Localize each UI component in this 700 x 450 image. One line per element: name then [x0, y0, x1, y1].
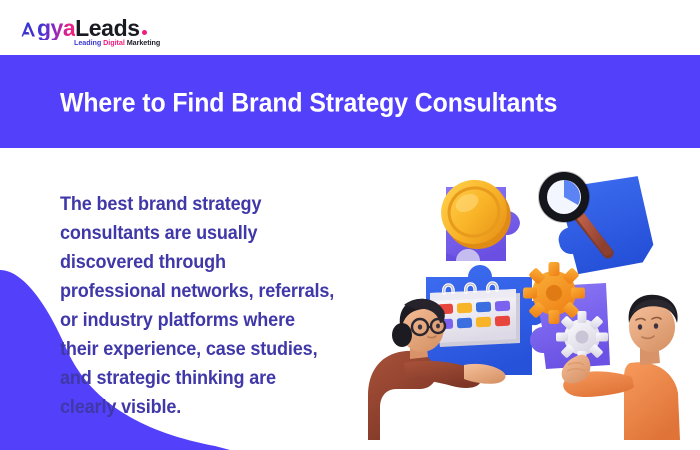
page-title: Where to Find Brand Strategy Consultants [60, 88, 601, 119]
magnifier-puzzle-piece [539, 172, 656, 277]
logo-text-leads: Leads [75, 17, 139, 40]
body-paragraph: The best brand strategy consultants are … [60, 190, 350, 422]
header-divider [0, 55, 700, 58]
tagline-word-digital: Digital [103, 38, 127, 47]
page-header: gya Leads Leading Digital Marketing [0, 0, 700, 58]
gold-coin-icon [433, 171, 520, 257]
infographic-canvas: gya Leads Leading Digital Marketing Wher… [0, 0, 700, 450]
logo-wordmark: gya Leads [20, 17, 200, 40]
brand-logo[interactable]: gya Leads Leading Digital Marketing [20, 17, 200, 51]
body-paragraph-text: The best brand strategy consultants are … [60, 190, 336, 422]
gears-puzzle-piece [523, 262, 610, 369]
coin-puzzle-piece [433, 171, 520, 261]
tagline-word-marketing: Marketing [127, 38, 161, 47]
angular-a-chevron-icon [20, 21, 37, 38]
logo-text-gya: gya [37, 17, 75, 40]
title-banner: Where to Find Brand Strategy Consultants [0, 58, 700, 148]
logo-dot-icon [142, 30, 147, 35]
hero-illustration [368, 165, 698, 440]
logo-tagline: Leading Digital Marketing [74, 38, 160, 47]
page-title-text: Where to Find Brand Strategy Consultants [60, 88, 557, 119]
tagline-word-leading: Leading [74, 38, 103, 47]
